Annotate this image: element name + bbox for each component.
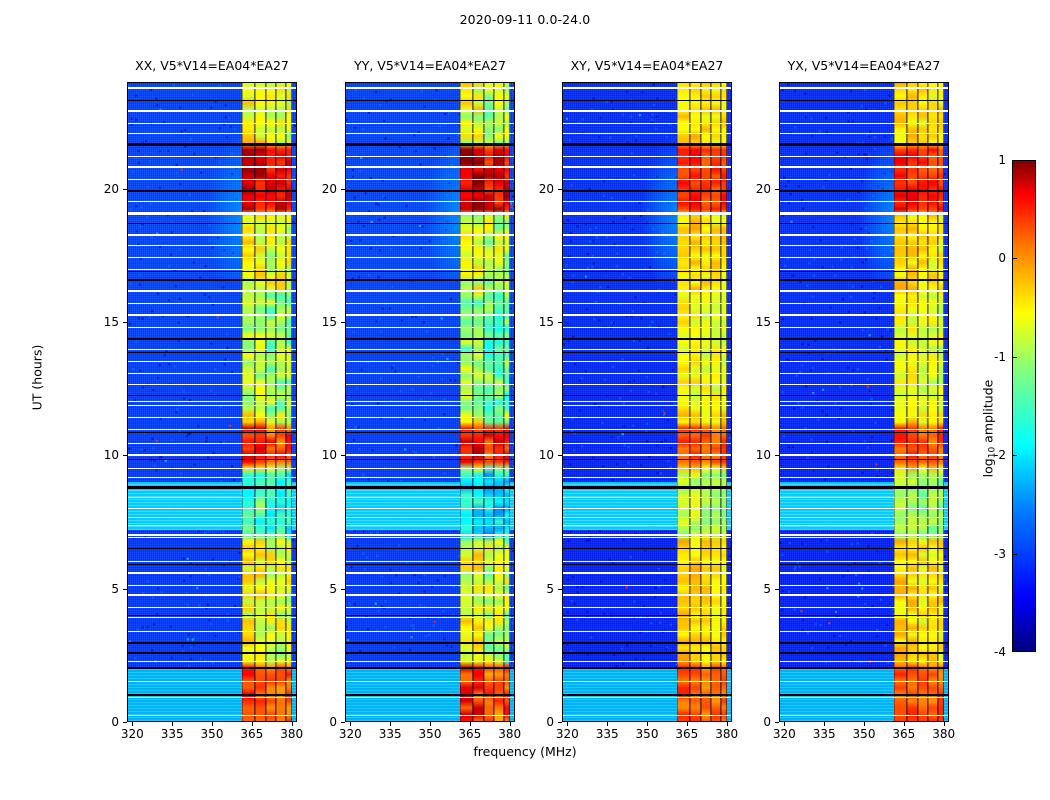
flagged-row-blank [346, 681, 514, 682]
x-tick-mark [727, 722, 728, 726]
x-tick-mark [904, 722, 905, 726]
flagged-row-blank [780, 594, 948, 595]
flagged-row-blank [128, 373, 296, 374]
flagged-row-blank [128, 585, 296, 586]
flagged-row-blank [128, 525, 296, 526]
flagged-row-blank [780, 497, 948, 499]
y-tick-label: 20 [303, 182, 337, 196]
flagged-row-blank [128, 681, 296, 682]
flagged-row-zero [563, 615, 731, 616]
x-tick-mark [350, 722, 351, 726]
y-tick-mark [775, 322, 779, 323]
flagged-row-zero [563, 694, 731, 696]
y-tick-label: 5 [303, 582, 337, 596]
flagged-row-blank [780, 508, 948, 509]
flagged-row-blank [128, 257, 296, 258]
flagged-row-blank [780, 561, 948, 562]
colorbar-tick-mark [1012, 357, 1017, 358]
x-tick-label: 335 [813, 727, 836, 741]
flagged-row-zero [128, 395, 296, 396]
flagged-row-zero [780, 223, 948, 224]
flagged-row-blank [128, 443, 296, 444]
flagged-row-zero [128, 271, 296, 272]
flagged-row-zero [563, 548, 731, 549]
flagged-row-zero [780, 548, 948, 549]
flagged-row-zero [780, 352, 948, 353]
x-tick-label: 380 [498, 727, 521, 741]
flagged-row-blank [780, 429, 948, 430]
flagged-row-blank [346, 314, 514, 316]
y-tick-mark [341, 455, 345, 456]
flagged-row-blank [346, 497, 514, 499]
x-tick-label: 320 [773, 727, 796, 741]
flagged-row-zero [780, 432, 948, 433]
flagged-row-zero [346, 667, 514, 669]
flagged-row-zero [780, 279, 948, 281]
x-tick-label: 350 [419, 727, 442, 741]
y-tick-label: 0 [85, 715, 119, 729]
flagged-row-blank [346, 405, 514, 407]
flagged-row-blank [128, 201, 296, 202]
flagged-row-blank [128, 497, 296, 499]
flagged-row-blank [563, 327, 731, 328]
flagged-row-blank [128, 534, 296, 537]
flagged-row-blank [346, 212, 514, 214]
flagged-row-blank [780, 314, 948, 316]
y-tick-mark [558, 722, 562, 723]
flagged-row-blank [780, 454, 948, 455]
flagged-row-zero [780, 190, 948, 191]
flagged-row-blank [346, 166, 514, 168]
flagged-row-zero [128, 564, 296, 565]
flagged-row-blank [780, 617, 948, 618]
flagged-row-blank [780, 166, 948, 168]
flagged-row-blank [128, 697, 296, 698]
flagged-row-blank [346, 290, 514, 291]
flagged-row-blank [563, 361, 731, 362]
flagged-row-blank [563, 443, 731, 444]
colorbar-tick-label: 0 [976, 251, 1006, 265]
flagged-row-blank [346, 384, 514, 385]
flagged-row-blank [780, 631, 948, 632]
y-tick-label: 15 [737, 315, 771, 329]
flagged-row-blank [780, 443, 948, 444]
spectrogram-panel-yx[interactable] [779, 82, 949, 722]
flagged-row-zero [346, 548, 514, 549]
x-tick-mark [212, 722, 213, 726]
flagged-rows-layer [346, 83, 514, 721]
y-tick-mark [123, 589, 127, 590]
spectrogram-panel-yy[interactable] [345, 82, 515, 722]
colorbar [1012, 160, 1036, 652]
flagged-row-blank [563, 303, 731, 304]
flagged-row-blank [346, 661, 514, 662]
flagged-row-zero [128, 548, 296, 549]
flagged-row-blank [780, 572, 948, 574]
flagged-row-blank [563, 681, 731, 682]
flagged-row-blank [563, 401, 731, 402]
flagged-row-blank [346, 133, 514, 134]
flagged-row-zero [346, 564, 514, 565]
flagged-row-zero [780, 642, 948, 645]
flagged-row-blank [563, 631, 731, 632]
y-tick-mark [341, 722, 345, 723]
y-tick-mark [775, 189, 779, 190]
flagged-row-blank [563, 234, 731, 235]
flagged-row-blank [346, 534, 514, 537]
flagged-row-blank [780, 327, 948, 328]
colorbar-label-prefix: log [981, 458, 996, 477]
flagged-row-zero [346, 642, 514, 645]
y-tick-mark [123, 189, 127, 190]
flagged-row-zero [780, 395, 948, 396]
flagged-row-blank [563, 212, 731, 214]
flagged-row-zero [346, 652, 514, 654]
flagged-row-blank [780, 661, 948, 662]
flagged-row-zero [346, 143, 514, 146]
flagged-row-blank [128, 405, 296, 407]
flagged-row-zero [128, 694, 296, 696]
x-tick-mark [784, 722, 785, 726]
y-tick-label: 20 [737, 182, 771, 196]
flagged-row-blank [563, 110, 731, 111]
flagged-row-blank [346, 349, 514, 350]
y-tick-mark [558, 589, 562, 590]
flagged-row-blank [780, 349, 948, 350]
flagged-row-zero [346, 395, 514, 396]
flagged-row-blank [563, 572, 731, 574]
flagged-row-blank [780, 133, 948, 134]
flagged-row-zero [780, 271, 948, 272]
y-tick-label: 5 [520, 582, 554, 596]
flagged-row-blank [128, 179, 296, 180]
flagged-row-blank [780, 384, 948, 385]
flagged-row-zero [128, 338, 296, 339]
colorbar-label-sub: 10 [988, 447, 998, 458]
x-tick-mark [824, 722, 825, 726]
flagged-row-blank [563, 477, 731, 478]
flagged-row-blank [346, 477, 514, 478]
colorbar-tick-label: -4 [976, 645, 1006, 659]
x-tick-label: 320 [556, 727, 579, 741]
flagged-row-blank [780, 303, 948, 304]
flagged-row-blank [563, 525, 731, 526]
flagged-row-blank [128, 401, 296, 402]
y-tick-label: 10 [737, 448, 771, 462]
x-tick-label: 365 [675, 727, 698, 741]
flagged-row-blank [563, 537, 731, 538]
x-tick-label: 380 [280, 727, 303, 741]
x-tick-mark [132, 722, 133, 726]
flagged-row-blank [563, 697, 731, 698]
y-tick-label: 20 [520, 182, 554, 196]
flagged-row-blank [128, 245, 296, 246]
flagged-row-zero [563, 642, 731, 645]
x-tick-label: 335 [596, 727, 619, 741]
figure-canvas: 2020-09-11 0.0-24.0 XX, V5*V14=EA04*EA27… [0, 0, 1050, 800]
flagged-row-blank [346, 245, 514, 246]
flagged-row-zero [346, 271, 514, 272]
flagged-row-zero [563, 100, 731, 101]
flagged-row-blank [563, 290, 731, 291]
x-tick-mark [470, 722, 471, 726]
y-tick-mark [123, 722, 127, 723]
colorbar-tick-mark [1012, 258, 1017, 259]
flagged-row-zero [346, 279, 514, 281]
flagged-row-blank [563, 133, 731, 134]
flagged-row-blank [346, 697, 514, 698]
flagged-row-blank [563, 429, 731, 430]
flagged-row-blank [346, 572, 514, 574]
x-tick-label: 320 [339, 727, 362, 741]
flagged-row-zero [780, 338, 948, 339]
flagged-row-blank [346, 87, 514, 89]
flagged-row-blank [563, 201, 731, 202]
y-tick-label: 15 [520, 315, 554, 329]
flagged-row-blank [563, 314, 731, 316]
x-tick-mark [510, 722, 511, 726]
flagged-row-blank [563, 497, 731, 499]
flagged-row-blank [780, 401, 948, 402]
flagged-row-blank [346, 443, 514, 444]
x-tick-label: 350 [853, 727, 876, 741]
y-tick-mark [558, 189, 562, 190]
x-tick-mark [944, 722, 945, 726]
spectrogram-panel-xx[interactable] [127, 82, 297, 722]
flagged-row-blank [780, 212, 948, 214]
flagged-row-zero [128, 615, 296, 616]
x-tick-mark [567, 722, 568, 726]
flagged-row-blank [780, 517, 948, 518]
y-tick-label: 10 [303, 448, 337, 462]
flagged-row-zero [128, 432, 296, 433]
flagged-row-blank [780, 477, 948, 478]
flagged-row-blank [346, 537, 514, 538]
flagged-row-blank [780, 715, 948, 716]
y-tick-label: 5 [85, 582, 119, 596]
flagged-row-blank [780, 290, 948, 291]
flagged-row-zero [563, 338, 731, 339]
flagged-row-blank [128, 361, 296, 362]
flagged-row-blank [563, 468, 731, 469]
flagged-row-blank [346, 303, 514, 304]
flagged-row-zero [563, 352, 731, 353]
y-tick-label: 15 [85, 315, 119, 329]
flagged-row-blank [563, 87, 731, 89]
x-tick-mark [647, 722, 648, 726]
flagged-row-blank [563, 585, 731, 586]
flagged-row-blank [128, 661, 296, 662]
flagged-row-blank [128, 87, 296, 89]
flagged-row-blank [780, 245, 948, 246]
flagged-row-zero [346, 615, 514, 616]
flagged-row-blank [128, 537, 296, 538]
figure-suptitle: 2020-09-11 0.0-24.0 [0, 12, 1050, 27]
flagged-row-zero [128, 667, 296, 669]
panel-title-yy: YY, V5*V14=EA04*EA27 [345, 58, 515, 73]
y-tick-label: 10 [520, 448, 554, 462]
y-tick-mark [558, 455, 562, 456]
flagged-row-zero [563, 223, 731, 224]
flagged-row-blank [563, 661, 731, 662]
flagged-row-blank [780, 697, 948, 698]
spectrogram-panel-xy[interactable] [562, 82, 732, 722]
flagged-row-zero [563, 395, 731, 396]
panel-title-yx: YX, V5*V14=EA04*EA27 [779, 58, 949, 73]
flagged-row-zero [128, 459, 296, 460]
y-tick-label: 0 [737, 715, 771, 729]
flagged-row-blank [780, 525, 948, 526]
x-tick-labels-panel-1: 320335350365380 [127, 727, 297, 745]
flagged-row-blank [128, 290, 296, 291]
y-tick-label: 0 [303, 715, 337, 729]
flagged-row-blank [563, 384, 731, 385]
flagged-row-zero [128, 190, 296, 191]
flagged-row-blank [563, 166, 731, 168]
flagged-row-blank [128, 715, 296, 716]
flagged-rows-layer [128, 83, 296, 721]
flagged-row-blank [563, 123, 731, 124]
x-tick-labels-panel-4: 320335350365380 [779, 727, 949, 745]
flagged-row-blank [563, 561, 731, 562]
flagged-rows-layer [563, 83, 731, 721]
flagged-row-blank [346, 257, 514, 258]
y-tick-mark [775, 589, 779, 590]
colorbar-tick-label: 1 [976, 153, 1006, 167]
flagged-row-blank [563, 454, 731, 455]
flagged-row-blank [563, 349, 731, 350]
flagged-row-zero [346, 100, 514, 101]
flagged-row-blank [563, 715, 731, 716]
y-tick-mark [341, 189, 345, 190]
flagged-row-zero [346, 338, 514, 339]
y-tick-label: 5 [737, 582, 771, 596]
flagged-row-zero [563, 279, 731, 281]
y-tick-mark [775, 722, 779, 723]
flagged-row-zero [346, 352, 514, 353]
flagged-row-blank [128, 561, 296, 562]
flagged-row-blank [346, 525, 514, 526]
flagged-row-blank [346, 401, 514, 402]
x-tick-label: 365 [458, 727, 481, 741]
flagged-row-blank [128, 384, 296, 385]
flagged-row-blank [128, 517, 296, 518]
x-tick-label: 335 [161, 727, 184, 741]
flagged-row-blank [128, 468, 296, 469]
flagged-row-zero [346, 486, 514, 489]
flagged-row-blank [346, 179, 514, 180]
y-tick-label: 15 [303, 315, 337, 329]
flagged-row-zero [563, 432, 731, 433]
flagged-row-blank [128, 314, 296, 316]
flagged-row-zero [128, 652, 296, 654]
flagged-row-blank [128, 607, 296, 608]
flagged-row-blank [346, 468, 514, 469]
flagged-row-zero [563, 271, 731, 272]
colorbar-label: log10 amplitude [981, 349, 998, 509]
y-tick-mark [123, 455, 127, 456]
flagged-row-blank [780, 405, 948, 407]
flagged-row-zero [780, 615, 948, 616]
flagged-row-blank [128, 454, 296, 455]
flagged-row-blank [128, 631, 296, 632]
y-tick-label: 10 [85, 448, 119, 462]
flagged-row-blank [563, 417, 731, 418]
flagged-row-zero [346, 432, 514, 433]
x-tick-label: 365 [240, 727, 263, 741]
x-tick-mark [252, 722, 253, 726]
flagged-row-blank [346, 327, 514, 328]
flagged-row-blank [780, 361, 948, 362]
x-tick-mark [864, 722, 865, 726]
flagged-row-zero [563, 652, 731, 654]
x-tick-mark [292, 722, 293, 726]
flagged-row-zero [780, 459, 948, 460]
y-tick-mark [123, 322, 127, 323]
flagged-row-blank [128, 508, 296, 509]
flagged-row-blank [563, 517, 731, 518]
x-tick-labels-panel-3: 320335350365380 [562, 727, 732, 745]
flagged-row-blank [780, 607, 948, 608]
flagged-row-blank [346, 517, 514, 518]
flagged-row-blank [346, 373, 514, 374]
flagged-row-blank [128, 617, 296, 618]
flagged-row-blank [346, 715, 514, 716]
flagged-row-blank [128, 110, 296, 111]
flagged-row-zero [563, 667, 731, 669]
flagged-row-zero [563, 143, 731, 146]
flagged-row-zero [128, 642, 296, 645]
flagged-row-zero [563, 190, 731, 191]
colorbar-tick-label: -3 [976, 547, 1006, 561]
flagged-row-zero [780, 652, 948, 654]
flagged-row-blank [780, 585, 948, 586]
flagged-row-blank [780, 201, 948, 202]
flagged-row-blank [346, 123, 514, 124]
flagged-row-blank [346, 631, 514, 632]
x-tick-mark [172, 722, 173, 726]
y-tick-label: 20 [85, 182, 119, 196]
flagged-row-blank [346, 234, 514, 235]
flagged-row-blank [128, 234, 296, 235]
flagged-row-zero [128, 352, 296, 353]
flagged-row-blank [563, 245, 731, 246]
flagged-row-blank [346, 561, 514, 562]
flagged-row-zero [346, 223, 514, 224]
flagged-row-blank [780, 373, 948, 374]
flagged-row-zero [128, 279, 296, 281]
flagged-row-blank [780, 417, 948, 418]
flagged-row-blank [563, 179, 731, 180]
panel-title-xy: XY, V5*V14=EA04*EA27 [562, 58, 732, 73]
colorbar-label-suffix: amplitude [981, 380, 996, 447]
flagged-row-zero [346, 459, 514, 460]
flagged-row-blank [346, 110, 514, 111]
flagged-row-blank [128, 429, 296, 430]
flagged-row-blank [780, 537, 948, 538]
flagged-row-blank [563, 607, 731, 608]
flagged-row-blank [128, 349, 296, 350]
flagged-row-blank [346, 429, 514, 430]
flagged-rows-layer [780, 83, 948, 721]
flagged-row-blank [563, 373, 731, 374]
x-tick-label: 380 [715, 727, 738, 741]
flagged-row-blank [128, 303, 296, 304]
x-tick-mark [607, 722, 608, 726]
x-axis-label: frequency (MHz) [0, 744, 1050, 759]
flagged-row-blank [346, 607, 514, 608]
flagged-row-blank [128, 572, 296, 574]
